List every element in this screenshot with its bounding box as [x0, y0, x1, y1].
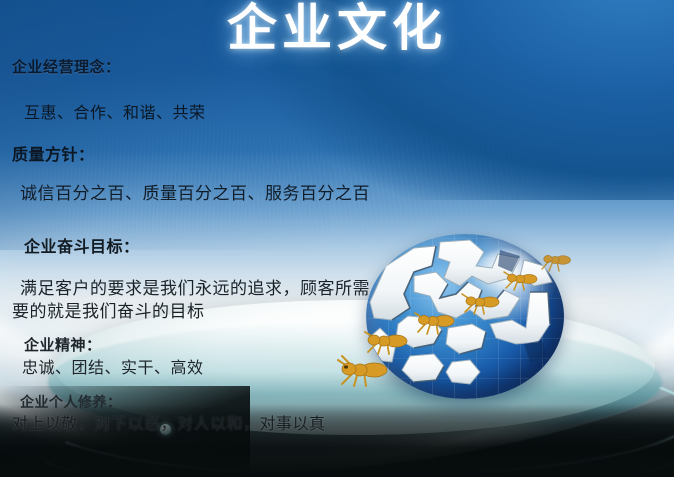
- section-heading-enterprise-spirit: 企业精神：: [24, 334, 102, 355]
- page-title: 企业文化: [0, 0, 674, 60]
- section-heading-personal-cultivation: 企业个人修养：: [20, 392, 122, 412]
- ant-icon: [534, 248, 578, 276]
- section-heading-quality-policy: 质量方针：: [12, 141, 95, 165]
- ant-icon: [408, 306, 462, 340]
- section-body-quality-policy: 诚信百分之百、质量百分之百、服务百分之百: [20, 179, 370, 204]
- section-heading-struggle-goal: 企业奋斗目标：: [24, 233, 140, 257]
- section-body-personal-cultivation: 对上以敬，对下以慈，对人以和，对事以真: [12, 410, 326, 434]
- section-body-enterprise-spirit: 忠诚、团结、实干、高效: [22, 354, 204, 378]
- section-heading-business-philosophy: 企业经营理念：: [12, 56, 121, 77]
- section-body-struggle-goal-line1: 满足客户的要求是我们永远的追求，顾客所需: [20, 274, 370, 299]
- section-body-business-philosophy: 互惠、合作、和谐、共荣: [24, 99, 206, 123]
- presentation-slide: 企业文化 企业经营理念： 互惠、合作、和谐、共荣 质量方针： 诚信百分之百、质量…: [0, 0, 674, 477]
- section-body-struggle-goal-line2: 要的就是我们奋斗的目标: [12, 297, 205, 322]
